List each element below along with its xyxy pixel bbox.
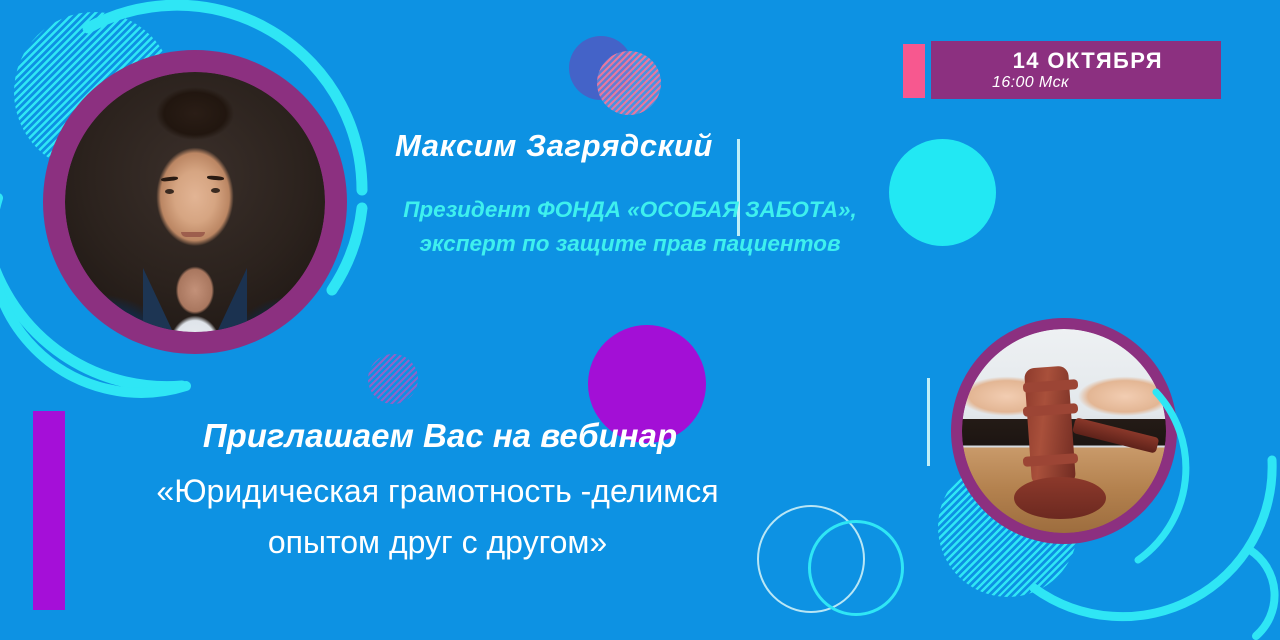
purple-accent-bar: [33, 411, 65, 610]
cyan-arc-lower-left: [0, 150, 250, 410]
announcement-subtitle-line-2: опытом друг с другом»: [80, 517, 795, 568]
date-accent-bar: [903, 44, 925, 98]
speaker-role-line-1: Президент ФОНДА «ОСОБАЯ ЗАБОТА»,: [380, 193, 880, 227]
cyan-arc-edge-right: [1246, 540, 1280, 640]
announcement-title: Приглашаем Вас на вебинар: [95, 417, 785, 455]
date-day-label: 14 ОКТЯБРЯ: [1013, 48, 1163, 74]
announcement-subtitle-line-1: «Юридическая грамотность -делимся: [80, 466, 795, 517]
divider-line-gavel: [927, 378, 930, 466]
date-time-label: 16:00 Мск: [992, 74, 1069, 92]
cyan-arc-bottom-right: [1000, 430, 1280, 640]
announcement-subtitle: «Юридическая грамотность -делимся опытом…: [80, 466, 795, 568]
striped-purple-circle-center: [368, 354, 418, 404]
speaker-role: Президент ФОНДА «ОСОБАЯ ЗАБОТА», эксперт…: [380, 193, 880, 261]
speaker-role-line-2: эксперт по защите прав пациентов: [380, 227, 880, 261]
date-badge: 14 ОКТЯБРЯ 16:00 Мск: [931, 41, 1221, 99]
striped-pink-circle-top-center: [597, 51, 661, 115]
outline-circle-cyan: [808, 520, 904, 616]
speaker-name: Максим Загрядский: [395, 128, 915, 164]
webinar-announcement-poster: 14 ОКТЯБРЯ 16:00 Мск Максим Загрядский П…: [0, 0, 1280, 640]
